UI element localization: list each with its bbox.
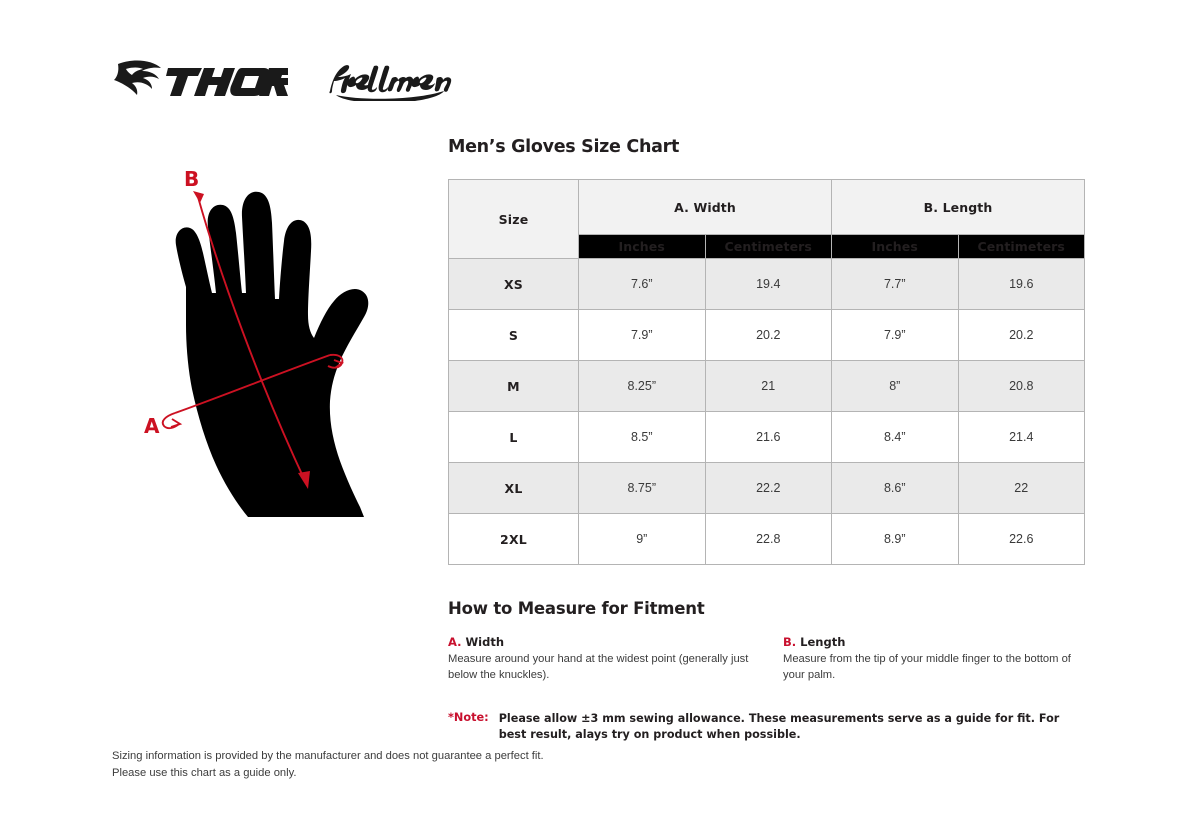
measure-item-width-heading: A. Width [448,635,751,649]
measure-description-length: Measure from the tip of your middle fing… [783,652,1086,683]
cell-length-centimeters: 22.6 [958,514,1085,565]
footer-line-1: Sizing information is provided by the ma… [112,748,544,765]
cell-width-inches: 8.25” [579,361,706,412]
measure-columns: A. Width Measure around your hand at the… [448,635,1088,683]
how-to-measure-section: How to Measure for Fitment A. Width Meas… [448,599,1088,743]
cell-length-inches: 7.9” [832,310,959,361]
measure-name-width: Width [466,635,505,649]
table-row: L8.5”21.68.4”21.4 [449,412,1085,463]
table-body: XS7.6”19.47.7”19.6S7.9”20.27.9”20.2M8.25… [449,259,1085,565]
note-block: *Note: Please allow ±3 mm sewing allowan… [448,711,1088,743]
note-text: Please allow ±3 mm sewing allowance. The… [499,711,1088,743]
column-header-length-inches: Inches [832,235,959,259]
hallman-logo [322,57,452,106]
table-row: M8.25”218”20.8 [449,361,1085,412]
measure-marker-b: B. [783,635,796,649]
page-title: Men’s Gloves Size Chart [448,138,1088,157]
measure-item-length: B. Length Measure from the tip of your m… [783,635,1086,683]
measure-item-width: A. Width Measure around your hand at the… [448,635,751,683]
table-row: S7.9”20.27.9”20.2 [449,310,1085,361]
column-header-width-centimeters: Centimeters [705,235,832,259]
footer-line-2: Please use this chart as a guide only. [112,765,544,782]
cell-length-inches: 8.6” [832,463,959,514]
cell-length-inches: 8.9” [832,514,959,565]
cell-width-inches: 8.75” [579,463,706,514]
cell-size: XS [449,259,579,310]
cell-length-centimeters: 20.8 [958,361,1085,412]
diagram-label-b: B [184,167,199,191]
measure-marker-a: A. [448,635,461,649]
how-to-measure-title: How to Measure for Fitment [448,599,1088,618]
footer-disclaimer: Sizing information is provided by the ma… [112,748,544,782]
column-group-header-width: A. Width [579,180,832,235]
cell-width-centimeters: 20.2 [705,310,832,361]
cell-size: 2XL [449,514,579,565]
brand-logo-bar [112,50,452,112]
cell-width-inches: 7.9” [579,310,706,361]
cell-width-centimeters: 19.4 [705,259,832,310]
column-header-length-centimeters: Centimeters [958,235,1085,259]
cell-size: L [449,412,579,463]
hand-measurement-diagram: A B [120,165,430,540]
cell-size: M [449,361,579,412]
cell-length-inches: 8” [832,361,959,412]
note-label: *Note: [448,711,489,724]
cell-length-centimeters: 21.4 [958,412,1085,463]
column-header-width-inches: Inches [579,235,706,259]
table-header-row-groups: Size A. Width B. Length [449,180,1085,235]
measure-item-length-heading: B. Length [783,635,1086,649]
cell-size: S [449,310,579,361]
table-row: XL8.75”22.28.6”22 [449,463,1085,514]
measure-name-length: Length [800,635,845,649]
table-row: XS7.6”19.47.7”19.6 [449,259,1085,310]
measure-description-width: Measure around your hand at the widest p… [448,652,751,683]
table-row: 2XL9”22.88.9”22.6 [449,514,1085,565]
cell-length-inches: 7.7” [832,259,959,310]
table-header: Size A. Width B. Length Inches Centimete… [449,180,1085,259]
cell-width-centimeters: 22.8 [705,514,832,565]
cell-length-centimeters: 19.6 [958,259,1085,310]
cell-length-centimeters: 22 [958,463,1085,514]
cell-width-inches: 8.5” [579,412,706,463]
size-chart-content: Men’s Gloves Size Chart Size A. Width B.… [448,138,1088,743]
cell-width-centimeters: 21 [705,361,832,412]
cell-width-centimeters: 22.2 [705,463,832,514]
cell-length-inches: 8.4” [832,412,959,463]
cell-size: XL [449,463,579,514]
cell-width-centimeters: 21.6 [705,412,832,463]
cell-width-inches: 9” [579,514,706,565]
cell-length-centimeters: 20.2 [958,310,1085,361]
size-chart-table: Size A. Width B. Length Inches Centimete… [448,179,1085,565]
cell-width-inches: 7.6” [579,259,706,310]
diagram-label-a: A [144,414,160,438]
thor-logo [112,56,288,107]
column-group-header-length: B. Length [832,180,1085,235]
column-header-size: Size [449,180,579,259]
